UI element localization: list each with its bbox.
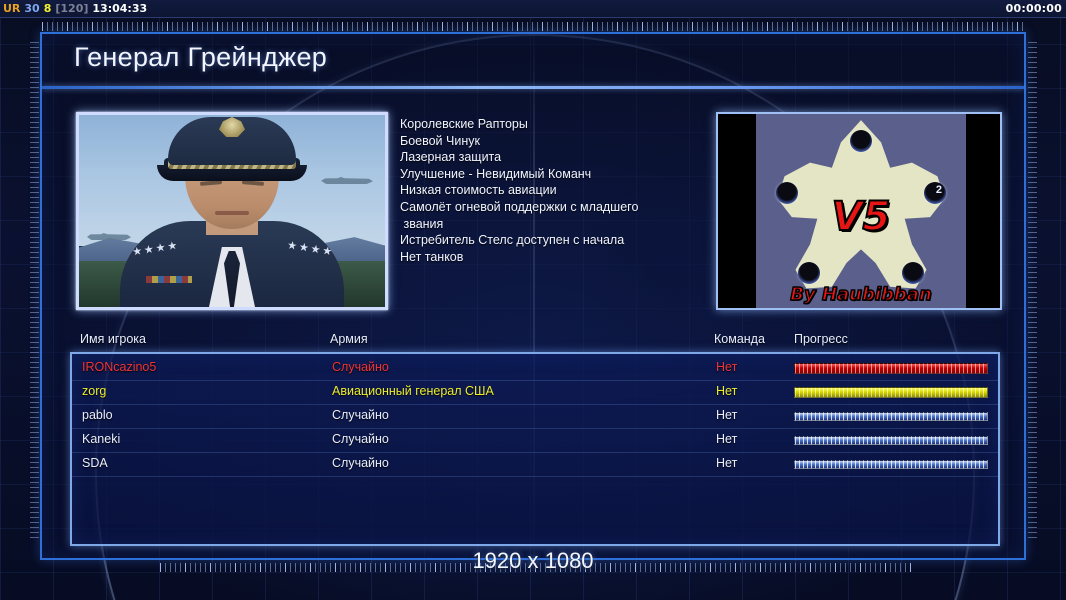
ability-line: Низкая стоимость авиации <box>400 182 720 199</box>
player-team[interactable]: Нет <box>716 408 737 422</box>
general-portrait: ★★★★ ★★★★ <box>76 112 388 310</box>
map-start-position <box>798 262 820 284</box>
mouth <box>215 211 249 215</box>
bracket-value: [120] <box>55 2 88 15</box>
general-abilities-list: Королевские Рапторы Боевой Чинук Лазерна… <box>400 116 720 265</box>
player-army[interactable]: Авиационный генерал США <box>332 384 494 398</box>
player-progress-bar <box>794 363 988 374</box>
map-start-position <box>776 182 798 204</box>
ability-line: Боевой Чинук <box>400 133 720 150</box>
player-name: pablo <box>82 408 113 422</box>
ability-line: Нет танков <box>400 249 720 266</box>
ability-line: Королевские Рапторы <box>400 116 720 133</box>
status-left-group: UR 30 8 [120] 13:04:33 <box>0 2 147 15</box>
player-table-body: IRONcazino5 Случайно Нет zorg Авиационны… <box>70 352 1000 546</box>
player-army[interactable]: Случайно <box>332 432 389 446</box>
map-start-position <box>850 130 872 152</box>
player-team[interactable]: Нет <box>716 384 737 398</box>
ping-counter: 8 <box>44 2 52 15</box>
map-preview[interactable]: 2 V5 By Haubibban <box>716 112 1002 310</box>
player-progress-bar <box>794 460 988 469</box>
column-header-army: Армия <box>330 332 368 346</box>
map-title-text: V5 <box>832 194 891 240</box>
player-army[interactable]: Случайно <box>332 408 389 422</box>
map-image: 2 V5 By Haubibban <box>756 114 966 308</box>
portrait-artwork: ★★★★ ★★★★ <box>79 115 385 307</box>
system-clock: 13:04:33 <box>92 2 147 15</box>
game-lobby-screen: UR 30 8 [120] 13:04:33 00:00:00 Генерал … <box>0 0 1066 600</box>
table-row[interactable]: IRONcazino5 Случайно Нет <box>72 357 998 381</box>
player-name: IRONcazino5 <box>82 360 156 374</box>
resolution-label: 1920 x 1080 <box>0 548 1066 574</box>
player-progress-bar <box>794 387 988 398</box>
ability-line: Самолёт огневой поддержки с младшего <box>400 199 720 216</box>
column-header-progress: Прогресс <box>794 332 848 346</box>
column-header-team: Команда <box>714 332 765 346</box>
player-name: Kaneki <box>82 432 120 446</box>
player-team[interactable]: Нет <box>716 360 737 374</box>
map-start-position <box>902 262 924 284</box>
lobby-panel: Генерал Грейнджер ★★★★ <box>40 32 1026 560</box>
table-row[interactable]: Kaneki Случайно Нет <box>72 429 998 453</box>
player-progress-bar <box>794 436 988 445</box>
medal-ribbons <box>146 276 192 283</box>
player-team[interactable]: Нет <box>716 456 737 470</box>
player-name: zorg <box>82 384 106 398</box>
column-header-name: Имя игрока <box>80 332 146 346</box>
ur-label: UR <box>3 2 20 15</box>
ability-line: Истребитель Стелс доступен с начала <box>400 232 720 249</box>
top-status-bar: UR 30 8 [120] 13:04:33 00:00:00 <box>0 0 1066 18</box>
player-army[interactable]: Случайно <box>332 456 389 470</box>
table-row[interactable]: SDA Случайно Нет <box>72 453 998 477</box>
player-team[interactable]: Нет <box>716 432 737 446</box>
general-info-row: ★★★★ ★★★★ <box>42 104 1028 319</box>
table-row[interactable]: zorg Авиационный генерал США Нет <box>72 381 998 405</box>
map-start-position-label: 2 <box>936 184 942 196</box>
ruler-left <box>30 42 39 542</box>
player-table-header: Имя игрока Армия Команда Прогресс <box>42 332 1028 352</box>
map-author-text: By Haubibban <box>756 284 966 305</box>
match-timer: 00:00:00 <box>1006 2 1066 15</box>
table-row[interactable]: pablo Случайно Нет <box>72 405 998 429</box>
player-progress-bar <box>794 412 988 421</box>
title-separator <box>42 86 1024 89</box>
player-name: SDA <box>82 456 108 470</box>
ability-line: Улучшение - Невидимый Команч <box>400 166 720 183</box>
ruler-right <box>1028 42 1037 542</box>
page-title: Генерал Грейнджер <box>74 42 327 73</box>
ruler-top <box>42 22 1026 31</box>
general-figure: ★★★★ ★★★★ <box>116 137 348 307</box>
player-army[interactable]: Случайно <box>332 360 389 374</box>
fps-counter: 30 <box>24 2 39 15</box>
ability-line: звания <box>400 216 720 233</box>
ability-line: Лазерная защита <box>400 149 720 166</box>
